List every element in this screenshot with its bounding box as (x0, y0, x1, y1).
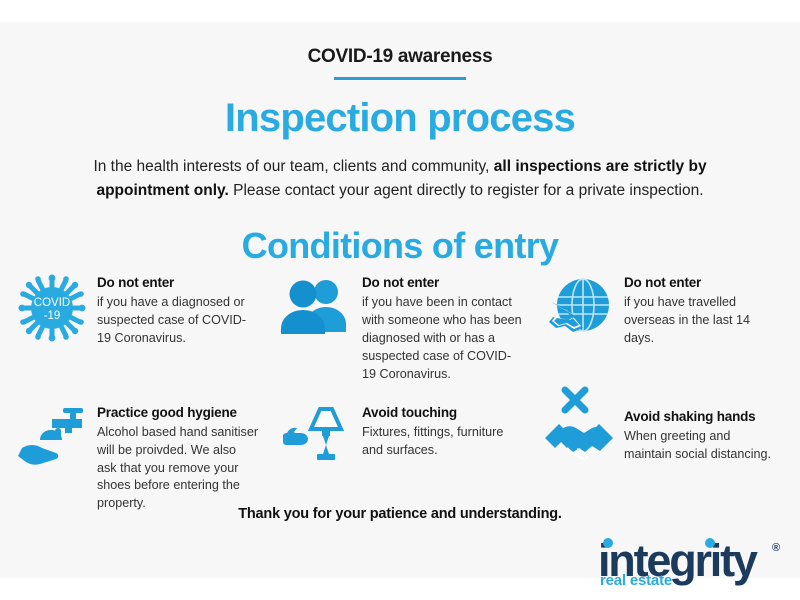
logo-dot-i2 (705, 538, 715, 548)
condition-card-handshake: Avoid shaking hands When greeting and ma… (543, 386, 783, 514)
conditions-heading: Conditions of entry (0, 225, 800, 267)
condition-card-hygiene: Practice good hygiene Alcohol based hand… (16, 402, 281, 514)
condition-body: Fixtures, fittings, furniture and surfac… (362, 424, 522, 460)
handwash-tap-icon (16, 402, 88, 474)
integrity-logo: integrity ® real estate (592, 530, 792, 592)
condition-title: Avoid shaking hands (624, 408, 774, 426)
condition-title: Avoid touching (362, 404, 522, 422)
page-title: Inspection process (0, 96, 800, 141)
conditions-row-1: COVID -19 Do not enter if you have a dia… (16, 272, 786, 384)
condition-body: When greeting and maintain social distan… (624, 428, 774, 464)
conditions-grid: COVID -19 Do not enter if you have a dia… (16, 272, 786, 513)
condition-body: if you have travelled overseas in the la… (624, 294, 776, 348)
condition-body: Alcohol based hand sanitiser will be pro… (97, 424, 259, 513)
condition-title: Do not enter (362, 274, 524, 292)
condition-text: Avoid shaking hands When greeting and ma… (624, 386, 774, 514)
condition-card-contact: Do not enter if you have been in contact… (281, 272, 543, 384)
logo-dot-i1 (603, 538, 613, 548)
logo-tagline: real estate (600, 572, 672, 589)
condition-body: if you have been in contact with someone… (362, 294, 524, 383)
logo-registered-mark: ® (772, 542, 780, 554)
globe-plane-icon (543, 272, 615, 344)
condition-title: Do not enter (97, 274, 257, 292)
condition-title: Do not enter (624, 274, 776, 292)
condition-card-covid: COVID -19 Do not enter if you have a dia… (16, 272, 281, 384)
condition-text: Do not enter if you have a diagnosed or … (97, 272, 257, 384)
lead-text-part2: Please contact your agent directly to re… (229, 182, 704, 199)
no-handshake-icon (543, 386, 615, 474)
condition-text: Do not enter if you have been in contact… (362, 272, 524, 384)
covid-virus-icon: COVID -19 (16, 272, 88, 344)
pointing-hand-lamp-icon (281, 402, 353, 474)
title-underline-rule (334, 77, 466, 80)
condition-body: if you have a diagnosed or suspected cas… (97, 294, 257, 348)
thank-you-text: Thank you for your patience and understa… (0, 506, 800, 522)
condition-text: Practice good hygiene Alcohol based hand… (97, 402, 259, 514)
condition-card-travel: Do not enter if you have travelled overs… (543, 272, 783, 384)
covid-icon-label-bottom: -19 (44, 310, 61, 322)
condition-text: Do not enter if you have travelled overs… (624, 272, 776, 384)
condition-text: Avoid touching Fixtures, fittings, furni… (362, 402, 522, 514)
conditions-row-2: Practice good hygiene Alcohol based hand… (16, 402, 786, 514)
lead-text-part1: In the health interests of our team, cli… (93, 158, 493, 175)
two-people-icon (281, 272, 353, 344)
covid-icon-label-top: COVID (34, 297, 70, 309)
poster-panel: COVID-19 awareness Inspection process In… (0, 22, 800, 578)
condition-card-touching: Avoid touching Fixtures, fittings, furni… (281, 402, 543, 514)
lead-paragraph: In the health interests of our team, cli… (47, 155, 753, 203)
condition-title: Practice good hygiene (97, 404, 259, 422)
eyebrow-title: COVID-19 awareness (0, 46, 800, 68)
